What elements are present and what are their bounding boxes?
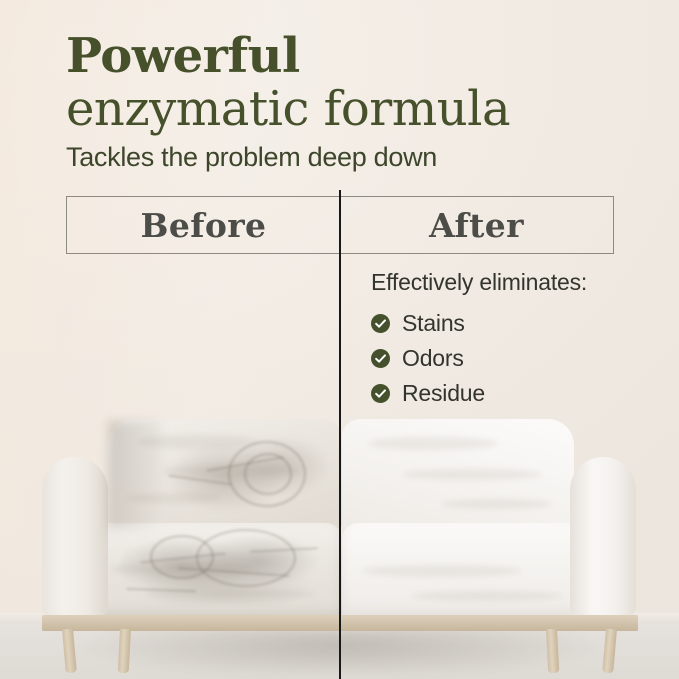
benefit-item: Odors xyxy=(371,345,651,371)
sofa-arm-left xyxy=(42,457,108,617)
sofa-seat-cushion-after xyxy=(342,523,594,619)
check-circle-icon xyxy=(371,349,390,368)
benefit-label: Odors xyxy=(402,345,464,371)
headline-line-1: Powerful xyxy=(66,30,656,82)
headline-block: Powerful enzymatic formula Tackles the p… xyxy=(66,30,656,174)
headline-subtitle: Tackles the problem deep down xyxy=(66,140,656,174)
sofa-leg xyxy=(546,629,559,674)
benefits-block: Effectively eliminates: Stains Odors Res… xyxy=(371,268,651,415)
benefit-item: Residue xyxy=(371,380,651,406)
benefit-item: Stains xyxy=(371,310,651,336)
before-cell: Before xyxy=(67,197,340,253)
before-label: Before xyxy=(141,206,267,245)
headline-line-2: enzymatic formula xyxy=(66,82,656,136)
after-label: After xyxy=(429,206,524,245)
after-cell: After xyxy=(340,197,613,253)
benefits-title: Effectively eliminates: xyxy=(371,268,651,296)
check-circle-icon xyxy=(371,384,390,403)
benefit-label: Residue xyxy=(402,380,485,406)
sofa-arm-right xyxy=(570,457,636,617)
benefit-label: Stains xyxy=(402,310,465,336)
before-after-divider xyxy=(339,190,341,679)
check-circle-icon xyxy=(371,314,390,333)
sofa-back-cushion-after xyxy=(342,419,574,531)
sofa-leg xyxy=(118,629,131,674)
product-comparison-image: Powerful enzymatic formula Tackles the p… xyxy=(0,0,679,679)
